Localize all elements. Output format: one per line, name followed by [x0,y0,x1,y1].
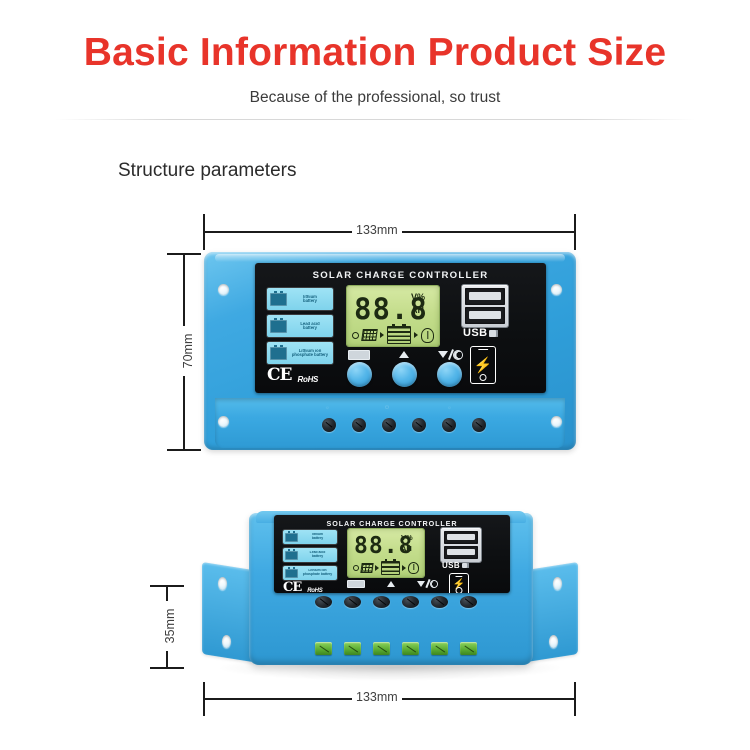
sun-icon [352,332,359,339]
certification-marks: CE RoHS [283,581,322,593]
header-divider [55,119,695,120]
faceplate-title: SOLAR CHARGE CONTROLLER [274,519,510,528]
battery-icon [387,326,411,344]
arrow-icon [380,332,384,338]
lightning-bolt-icon: ⚡ [474,358,493,373]
terminal-connector[interactable] [315,642,332,655]
terminal-marking: ☼ [447,405,452,411]
usb-port[interactable] [444,531,478,544]
mounting-hole [551,416,562,427]
arrow-icon [402,565,406,571]
mounting-hole [218,416,229,427]
down-night-button[interactable] [437,362,462,387]
moon-icon [454,351,462,359]
certification-marks: CE RoHS [267,367,318,384]
down-night-button-cap-icon [414,579,440,588]
phone-charging-icon: ⚡ [470,346,496,384]
battery-icon [285,533,298,542]
battery-icon [285,551,298,560]
battery-icon [270,293,287,306]
faceplate: SOLAR CHARGE CONTROLLER lithium battery … [255,263,546,393]
terminal-connector[interactable] [402,642,419,655]
faceplate: SOLAR CHARGE CONTROLLER lithium battery … [274,515,510,593]
terminal-marking: ☼ [325,405,330,411]
slash-icon [448,349,454,360]
arrow-icon [414,332,418,338]
phone-charging-icon: ⚡ [449,573,469,593]
dim-label-side-height: 70mm [181,326,195,376]
terminal-screw[interactable] [322,418,336,432]
usb-label: USB [463,327,498,339]
menu-button[interactable] [347,362,372,387]
shell-gloss [215,254,565,262]
bar-icon [347,580,365,588]
usb-plug-icon [462,563,469,568]
battery-icon [270,320,287,333]
terminal-connector[interactable] [344,642,361,655]
up-button-cap-icon [381,579,401,588]
slash-icon [426,579,431,588]
section-heading: Structure parameters [118,158,296,184]
battery-chip-label: Lead acid battery [287,322,333,331]
battery-chip-label: lithium battery [298,533,337,540]
terminal-screw[interactable] [412,418,426,432]
terminal-connector[interactable] [460,642,477,655]
mounting-hole [218,577,227,590]
sun-icon [353,565,359,571]
usb-port[interactable] [444,546,478,559]
terminal-screw[interactable] [442,418,456,432]
battery-chip-lithium: lithium battery [267,288,333,310]
moon-icon [431,581,437,587]
chip-label-line2: phosphate battery [292,352,328,357]
battery-chip-label: lithium battery [287,295,333,304]
usb-plug-icon [489,330,498,337]
down-night-button-cap-icon [435,349,465,360]
usb-port[interactable] [465,288,505,305]
page-title: Basic Information Product Size [0,30,750,76]
lightning-bolt-icon: ⚡ [453,580,465,590]
terminal-screw[interactable] [344,596,361,608]
terminal-screw[interactable] [472,418,486,432]
dim-label-top-width: 133mm [352,223,402,237]
mounting-hole [553,577,562,590]
triangle-down-icon [438,351,448,358]
terminal-screw[interactable] [431,596,448,608]
terminal-screw[interactable] [460,596,477,608]
product-size-infographic: Basic Information Product Size Because o… [0,0,750,750]
arrow-icon [375,565,379,571]
chip-label-line2: battery [312,554,323,558]
mounting-hole [549,635,558,648]
terminal-block: ☼ ⏻ ☼ [215,398,565,448]
solar-panel-icon [360,563,373,573]
usb-port-block[interactable] [441,528,481,562]
mounting-hole [218,284,229,295]
battery-icon [381,561,400,575]
bulb-icon [408,562,419,574]
mounting-hole [222,635,231,648]
battery-icon [270,347,287,360]
lcd-unit-top: V% [411,293,425,302]
chip-label-line2: battery [303,325,317,330]
dim-label-bottom-width: 133mm [352,690,402,704]
lcd-status-icons [347,326,439,344]
battery-chip-lifepo4: Lithium ion phosphate battery [267,342,333,364]
terminal-marking: ⏻ [385,405,389,411]
battery-chip-lifepo4: Lithium ion phosphate battery [283,566,337,580]
terminal-screw[interactable] [352,418,366,432]
rohs-mark: RoHS [298,376,319,384]
battery-chip-lead-acid: Lead acid battery [283,548,337,562]
battery-chip-label: Lead acid battery [298,551,337,558]
chip-label-line2: battery [312,536,323,540]
terminal-screw[interactable] [373,596,390,608]
terminal-screw[interactable] [382,418,396,432]
chip-label-line2: battery [303,298,317,303]
solar-panel-icon [361,329,378,341]
menu-button-cap-icon [346,579,366,588]
battery-chip-lithium: lithium battery [283,530,337,544]
up-button-cap-icon [392,349,416,360]
terminal-connector[interactable] [431,642,448,655]
lcd-display: 88.8 V% AH [347,286,439,346]
usb-port-block[interactable] [462,285,508,327]
chip-label-line2: phosphate battery [303,572,332,576]
usb-label: USB [442,561,469,570]
lcd-unit-top: V% [401,534,413,542]
usb-label-text: USB [442,561,460,570]
triangle-up-icon [387,581,395,587]
battery-chip-lead-acid: Lead acid battery [267,315,333,337]
dim-label-depth-height: 35mm [163,601,177,651]
terminal-screw[interactable] [402,596,419,608]
page-subtitle: Because of the professional, so trust [0,88,750,108]
menu-button-cap-icon [347,349,371,360]
triangle-up-icon [399,351,409,358]
terminal-connector[interactable] [373,642,390,655]
rohs-mark: RoHS [307,588,322,593]
lcd-display: 88.8 V% AH [348,529,424,577]
bar-icon [348,350,370,360]
battery-icon [285,569,298,578]
usb-label-text: USB [463,327,487,339]
ce-mark: CE [283,581,301,593]
lcd-unit-bottom: AH [411,306,424,315]
faceplate-title: SOLAR CHARGE CONTROLLER [255,270,546,281]
controller-front-view: SOLAR CHARGE CONTROLLER lithium battery … [204,252,576,450]
battery-chip-label: Lithium ion phosphate battery [287,349,333,358]
lcd-unit-bottom: AH [401,545,412,553]
controller-perspective-view: SOLAR CHARGE CONTROLLER lithium battery … [196,495,584,680]
up-button[interactable] [392,362,417,387]
usb-port[interactable] [465,307,505,324]
bulb-icon [421,328,434,343]
mounting-hole [551,284,562,295]
ce-mark: CE [267,367,292,384]
battery-chip-label: Lithium ion phosphate battery [298,569,337,576]
terminal-screw[interactable] [315,596,332,608]
lcd-status-icons [348,560,424,575]
triangle-down-icon [417,581,425,587]
